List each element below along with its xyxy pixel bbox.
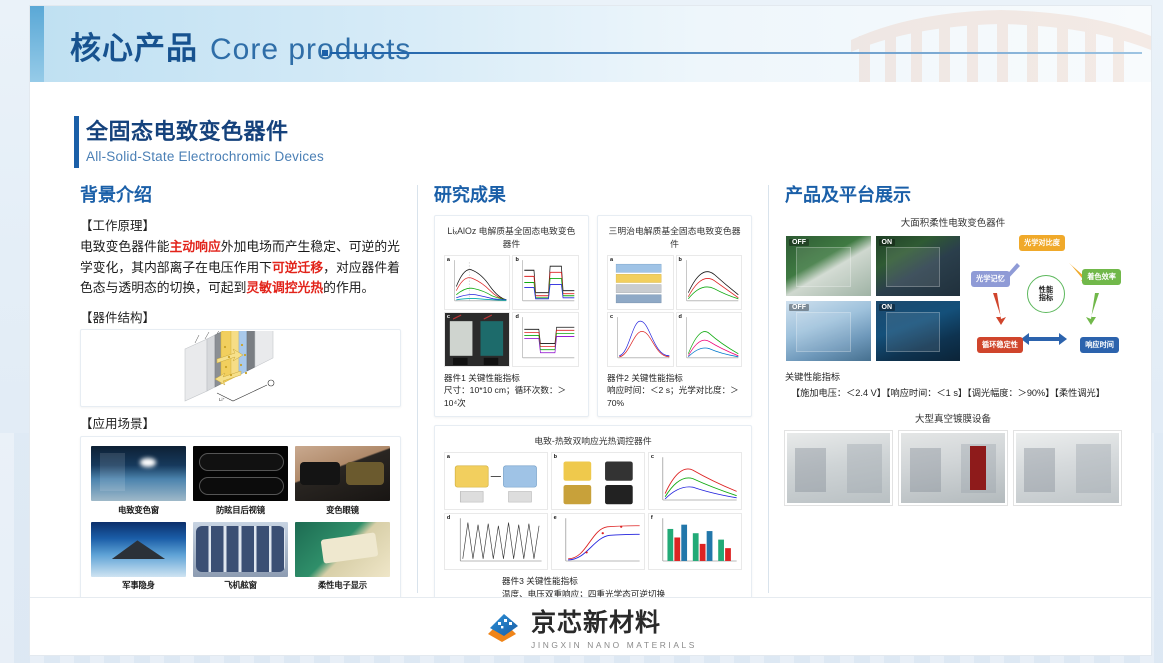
control-panel bbox=[970, 446, 987, 491]
section-rule bbox=[330, 52, 1142, 54]
content-columns: 背景介绍 【工作原理】 电致变色器件能主动响应外加电场而产生稳定、可逆的光学变化… bbox=[80, 181, 1121, 593]
para-part-1: 电致变色器件能 bbox=[80, 239, 170, 254]
research-card: 三明治电解质基全固态电致变色器件 a bbox=[597, 215, 752, 417]
figure-panel-d: d bbox=[444, 513, 548, 571]
panel-label: d bbox=[515, 314, 518, 320]
application-item: 军事隐身 bbox=[91, 522, 186, 592]
figure-panel-b: b bbox=[551, 452, 645, 510]
section-accent-bar bbox=[74, 116, 79, 168]
panel-label: b bbox=[679, 257, 682, 263]
panel-label: c bbox=[447, 314, 450, 320]
panel-label: b bbox=[515, 257, 518, 263]
application-item: 变色眼镜 bbox=[295, 446, 390, 516]
figure-panel-a: a bbox=[444, 452, 548, 510]
caption-body: 尺寸：10*10 cm；循环次数：＞10⁴次 bbox=[444, 384, 579, 409]
principle-label: 【工作原理】 bbox=[80, 215, 401, 234]
logo-name-cn: 京芯新材料 bbox=[531, 603, 697, 639]
application-item: 柔性电子显示 bbox=[295, 522, 390, 592]
figure-six-grid: a b bbox=[444, 452, 742, 570]
cleanroom-equipment-photo bbox=[1014, 431, 1121, 505]
flexible-demo-row: OFF ON OFF ON bbox=[785, 235, 1121, 362]
application-caption: 军事隐身 bbox=[91, 579, 186, 591]
figure-quad-grid: a bbox=[444, 255, 579, 367]
page-title-cn: 核心产品 bbox=[70, 31, 198, 66]
highlight-photothermal-control: 灵敏调控光热 bbox=[246, 280, 323, 295]
figure-panel-c: c bbox=[607, 312, 674, 367]
device-photo-on-flexible: ON bbox=[875, 300, 962, 362]
flexible-device-title: 大面积柔性电致变色器件 bbox=[785, 215, 1121, 229]
figure-panel-a: a bbox=[444, 255, 511, 310]
vacuum-chamber-photo bbox=[899, 431, 1006, 505]
header-accent-bar bbox=[30, 6, 44, 82]
figure-panel-f: f bbox=[648, 513, 742, 571]
research-figure: a b bbox=[607, 255, 742, 367]
principle-paragraph: 电致变色器件能主动响应外加电场而产生稳定、可逆的光学变化，其内部离子在电压作用下… bbox=[80, 237, 401, 299]
performance-radial-diagram: 光学对比度 着色效率 响应时间 循环稳定性 光学记忆 性能指标 bbox=[971, 235, 1121, 353]
research-card: LiₓAlOz 电解质基全固态电致变色器件 a bbox=[434, 215, 589, 417]
research-heading: 研究成果 bbox=[434, 181, 752, 207]
page-title: 核心产品Core products bbox=[70, 23, 411, 68]
section-title-en: All-Solid-State Electrochromic Devices bbox=[86, 149, 324, 164]
sunglasses-image bbox=[295, 446, 390, 501]
company-logo-text: 京芯新材料 JINGXIN NANO MATERIALS bbox=[531, 603, 697, 650]
device-photo-off-flexible: OFF bbox=[785, 300, 872, 362]
slide-footer: 京芯新材料 JINGXIN NANO MATERIALS bbox=[30, 597, 1151, 655]
figure-panel-d: d bbox=[676, 312, 743, 367]
panel-label: b bbox=[554, 454, 557, 460]
research-card-caption: 器件1 关键性能指标 尺寸：10*10 cm；循环次数：＞10⁴次 bbox=[444, 372, 579, 409]
radial-center-label: 性能指标 bbox=[1027, 275, 1065, 313]
figure-quad-grid: a b bbox=[607, 255, 742, 367]
device-photo-grid: OFF ON OFF ON bbox=[785, 235, 961, 362]
figure-panel-c-photo: c bbox=[444, 312, 511, 367]
panel-label: a bbox=[447, 454, 450, 460]
node-cycle-stability: 循环稳定性 bbox=[977, 337, 1023, 353]
wide-card-title: 电致-热致双响应光热调控器件 bbox=[444, 434, 742, 447]
slide-content: 核心产品Core products 全固态电致变色器件 All-Solid-St… bbox=[30, 6, 1151, 655]
flexible-display-image bbox=[295, 522, 390, 577]
kpi-title: 关键性能指标 bbox=[785, 369, 1121, 383]
section-title-cn: 全固态电致变色器件 bbox=[86, 114, 324, 146]
device-photo-on-rigid: ON bbox=[875, 235, 962, 297]
rearview-mirror-image bbox=[193, 446, 288, 501]
column-background: 背景介绍 【工作原理】 电致变色器件能主动响应外加电场而产生稳定、可逆的光学变化… bbox=[80, 181, 401, 593]
column-divider-1 bbox=[417, 185, 418, 593]
section-title: 全固态电致变色器件 All-Solid-State Electrochromic… bbox=[86, 114, 324, 164]
research-card-title: 三明治电解质基全固态电致变色器件 bbox=[607, 224, 742, 250]
wide-figure: a b bbox=[444, 452, 742, 570]
panel-label: c bbox=[610, 314, 613, 320]
equipment-photo-row bbox=[785, 431, 1121, 505]
panel-label: e bbox=[554, 515, 557, 521]
highlight-active-response: 主动响应 bbox=[170, 239, 221, 254]
panel-label: a bbox=[447, 257, 450, 263]
node-optical-contrast: 光学对比度 bbox=[1019, 235, 1065, 251]
application-caption: 飞机舷窗 bbox=[193, 579, 288, 591]
application-caption: 电致变色窗 bbox=[91, 504, 186, 516]
background-heading: 背景介绍 bbox=[80, 181, 401, 207]
research-wide-card: 电致-热致双响应光热调控器件 a bbox=[434, 425, 752, 608]
svg-text:Li⁺: Li⁺ bbox=[219, 397, 225, 402]
colonnade-watermark bbox=[851, 6, 1151, 82]
applications-card: 电致变色窗 防眩目后视镜 变色眼镜 军事隐身 bbox=[80, 436, 401, 599]
company-logo-icon bbox=[484, 610, 522, 644]
window-image bbox=[91, 446, 186, 501]
state-tag: OFF bbox=[789, 239, 809, 246]
panel-label: a bbox=[610, 257, 613, 263]
panel-label: f bbox=[651, 515, 653, 521]
state-tag: ON bbox=[879, 239, 896, 246]
layered-device-diagram: Li⁺ bbox=[155, 331, 325, 405]
page-title-en: Core products bbox=[210, 33, 411, 66]
research-card-title: LiₓAlOz 电解质基全固态电致变色器件 bbox=[444, 224, 579, 250]
research-figure: a bbox=[444, 255, 579, 367]
products-heading: 产品及平台展示 bbox=[785, 181, 1121, 207]
kpi-values: 【施加电压：＜2.4 V】【响应时间：＜1 s】【调光幅度：＞90%】【柔性调光… bbox=[785, 385, 1121, 399]
applications-grid: 电致变色窗 防眩目后视镜 变色眼镜 军事隐身 bbox=[91, 446, 390, 591]
application-caption: 变色眼镜 bbox=[295, 504, 390, 516]
structure-label: 【器件结构】 bbox=[80, 307, 401, 326]
column-divider-2 bbox=[768, 185, 769, 593]
figure-panel-e: e bbox=[551, 513, 645, 571]
state-tag: ON bbox=[879, 304, 896, 311]
application-item: 飞机舷窗 bbox=[193, 522, 288, 592]
caption-title: 器件2 关键性能指标 bbox=[607, 372, 742, 384]
device-photo-off-rigid: OFF bbox=[785, 235, 872, 297]
node-response-time: 响应时间 bbox=[1080, 337, 1119, 353]
column-research: 研究成果 LiₓAlOz 电解质基全固态电致变色器件 a bbox=[434, 181, 752, 593]
research-card-row: LiₓAlOz 电解质基全固态电致变色器件 a bbox=[434, 215, 752, 417]
slide-header: 核心产品Core products bbox=[30, 6, 1151, 82]
application-caption: 柔性电子显示 bbox=[295, 579, 390, 591]
panel-label: c bbox=[651, 454, 654, 460]
application-caption: 防眩目后视镜 bbox=[193, 504, 288, 516]
figure-panel-d: d bbox=[512, 312, 579, 367]
figure-panel-b: b bbox=[676, 255, 743, 310]
figure-panel-a: a bbox=[607, 255, 674, 310]
para-part-4: 的作用。 bbox=[323, 280, 374, 295]
scenario-label: 【应用场景】 bbox=[80, 413, 401, 432]
caption-title: 器件3 关键性能指标 bbox=[502, 575, 742, 587]
node-coloration-efficiency: 着色效率 bbox=[1082, 269, 1121, 285]
caption-title: 器件1 关键性能指标 bbox=[444, 372, 579, 384]
highlight-reversible-migration: 可逆迁移 bbox=[272, 260, 323, 275]
equipment-title: 大型真空镀膜设备 bbox=[785, 411, 1121, 425]
logo-name-en: JINGXIN NANO MATERIALS bbox=[531, 640, 697, 650]
stealth-aircraft-image bbox=[91, 522, 186, 577]
figure-panel-b: b bbox=[512, 255, 579, 310]
slide: 核心产品Core products 全固态电致变色器件 All-Solid-St… bbox=[0, 0, 1163, 663]
figure-panel-c: c bbox=[648, 452, 742, 510]
state-tag: OFF bbox=[789, 304, 809, 311]
panel-label: d bbox=[447, 515, 450, 521]
aircraft-porthole-image bbox=[193, 522, 288, 577]
node-optical-memory: 光学记忆 bbox=[971, 271, 1010, 287]
application-item: 防眩目后视镜 bbox=[193, 446, 288, 516]
application-item: 电致变色窗 bbox=[91, 446, 186, 516]
column-products: 产品及平台展示 大面积柔性电致变色器件 OFF ON OFF bbox=[785, 181, 1121, 593]
coating-line-photo bbox=[785, 431, 892, 505]
research-card-caption: 器件2 关键性能指标 响应时间：＜2 s；光学对比度：＞70% bbox=[607, 372, 742, 409]
caption-body: 响应时间：＜2 s；光学对比度：＞70% bbox=[607, 384, 742, 409]
device-structure-figure: Li⁺ bbox=[80, 329, 401, 407]
panel-label: d bbox=[679, 314, 682, 320]
